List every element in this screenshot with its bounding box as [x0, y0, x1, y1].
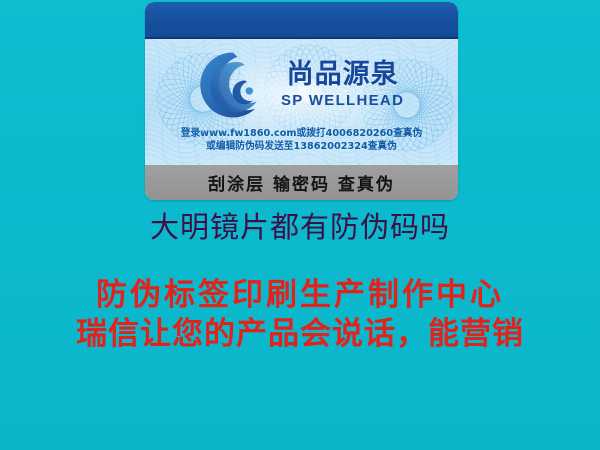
promo-line-2: 瑞信让您的产品会说话，能营销: [0, 315, 600, 354]
fineprint-line-2: 或编辑防伪码发送至13862002324查真伪: [150, 140, 454, 153]
page-canvas: 尚品源泉 SP WELLHEAD 登录www.fw1860.com或拨打4006…: [0, 0, 600, 450]
page-title: 大明镜片都有防伪码吗: [0, 209, 600, 245]
verification-fineprint: 登录www.fw1860.com或拨打4006820260查真伪 或编辑防伪码发…: [145, 127, 458, 153]
scratch-off-bar[interactable]: 刮涂层 输密码 查真伪: [145, 165, 458, 200]
fineprint-line-1: 登录www.fw1860.com或拨打4006820260查真伪: [150, 127, 454, 140]
promo-line-1: 防伪标签印刷生产制作中心: [0, 276, 600, 315]
brand-lockup: 尚品源泉 SP WELLHEAD: [159, 44, 449, 126]
label-header-band: [145, 2, 458, 39]
label-body: 尚品源泉 SP WELLHEAD 登录www.fw1860.com或拨打4006…: [145, 39, 458, 165]
spiral-wave-logo-icon: [195, 48, 271, 122]
scratch-off-instructions: 刮涂层 输密码 查真伪: [208, 170, 395, 195]
brand-name-cn: 尚品源泉: [287, 60, 399, 90]
brand-name-en: SP WELLHEAD: [281, 92, 404, 110]
security-label: 尚品源泉 SP WELLHEAD 登录www.fw1860.com或拨打4006…: [145, 2, 458, 200]
promo-block: 防伪标签印刷生产制作中心 瑞信让您的产品会说话，能营销: [0, 276, 600, 354]
